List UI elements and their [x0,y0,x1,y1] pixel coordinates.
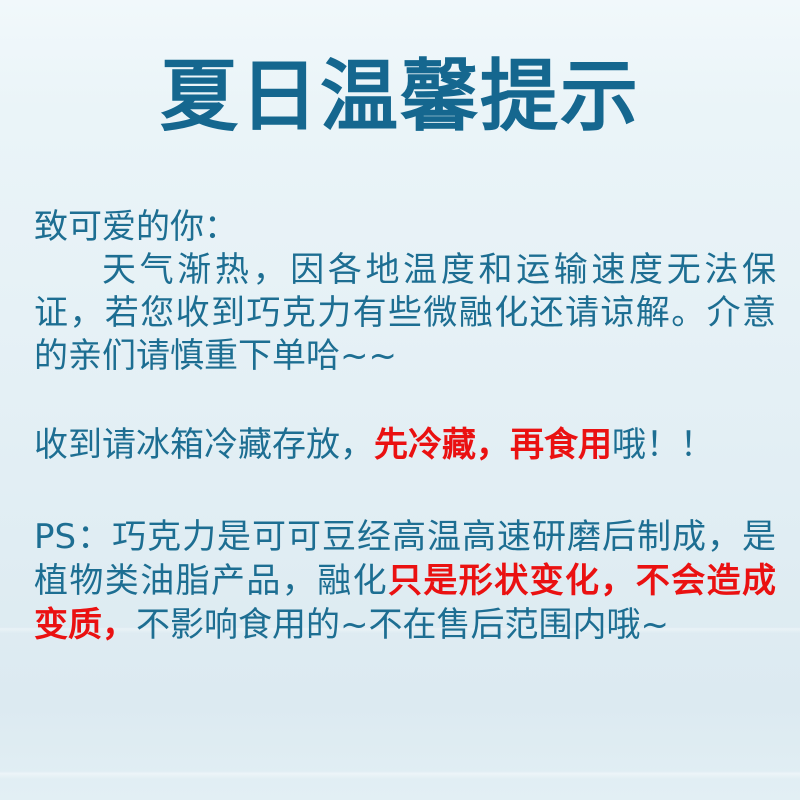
page-title: 夏日温馨提示 [0,58,800,136]
summer-notice-poster: 夏日温馨提示 致可爱的你： 天气渐热，因各地温度和运输速度无法保证，若您收到巧克… [0,0,800,800]
storage-tail-text: 哦！！ [612,425,714,465]
notice-body: 致可爱的你： 天气渐热，因各地温度和运输速度无法保证，若您收到巧克力有些微融化还… [34,206,776,647]
salutation-line: 致可爱的你： [34,206,776,249]
storage-highlight-text: 先冷藏，再食用 [374,425,612,465]
storage-lead-text: 收到请冰箱冷藏存放， [34,425,374,465]
melting-disclaimer-paragraph: 天气渐热，因各地温度和运输速度无法保证，若您收到巧克力有些微融化还请谅解。介意的… [34,249,776,378]
storage-instruction-line: 收到请冰箱冷藏存放，先冷藏，再食用哦！！ [34,424,776,467]
ps-note-paragraph: PS：巧克力是可可豆经高温高速研磨后制成，是植物类油脂产品，融化只是形状变化，不… [34,515,776,647]
ps-tail-text: 不影响食用的~不在售后范围内哦~ [136,605,669,645]
